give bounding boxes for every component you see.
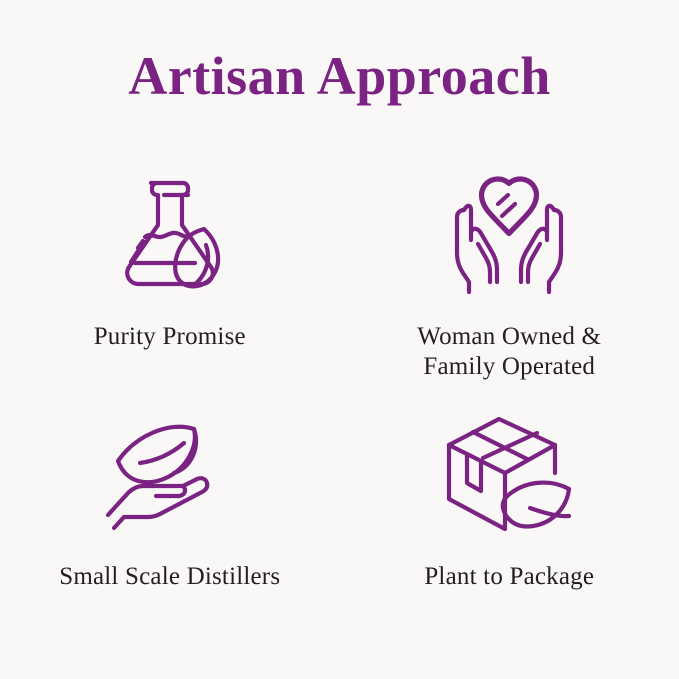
leaf-in-open-hand-icon xyxy=(95,414,245,534)
feature-label: Plant to Package xyxy=(424,562,594,592)
feature-item-woman-owned: Woman Owned & Family Operated xyxy=(340,150,679,400)
feature-label: Small Scale Distillers xyxy=(59,562,280,592)
hands-holding-heart-icon xyxy=(434,164,584,304)
feature-grid: Purity Promise xyxy=(0,150,679,650)
feature-item-plant-to-package: Plant to Package xyxy=(340,400,679,650)
artisan-approach-panel: Artisan Approach xyxy=(0,0,679,679)
feature-item-small-scale-distillers: Small Scale Distillers xyxy=(0,400,340,650)
feature-label: Woman Owned & Family Operated xyxy=(417,322,601,382)
package-box-leaf-icon xyxy=(434,414,584,534)
flask-leaf-icon xyxy=(95,164,245,304)
feature-label: Purity Promise xyxy=(94,322,246,352)
feature-item-purity-promise: Purity Promise xyxy=(0,150,340,400)
page-title: Artisan Approach xyxy=(0,44,679,108)
